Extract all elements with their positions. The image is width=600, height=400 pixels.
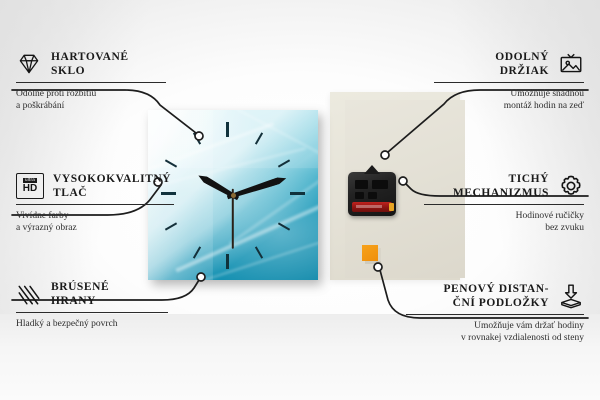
feature-beveled-edges[interactable]: BRÚSENÉ HRANY Hladký a bezpečný povrch	[16, 280, 168, 330]
mechanism-slot	[368, 192, 377, 199]
clock-mechanism	[348, 172, 396, 216]
beveled-edges-icon	[16, 281, 42, 307]
feature-divider	[406, 314, 584, 315]
second-hand	[232, 189, 234, 249]
aa-battery	[352, 202, 392, 212]
feature-description: Vivídne farby a výrazný obraz	[16, 210, 174, 234]
battery-label	[356, 205, 382, 208]
mechanism-slot	[372, 180, 388, 189]
feature-description: Hladký a bezpečný povrch	[16, 318, 168, 330]
feature-title: TICHÝ MECHANIZMUS	[453, 172, 549, 200]
feature-title: HARTOVANÉ SKLO	[51, 50, 129, 78]
feature-divider	[424, 204, 584, 205]
gear-icon	[558, 173, 584, 199]
diamond-icon	[16, 51, 42, 77]
arrow-onto-layers-icon	[558, 283, 584, 309]
feature-description: Odolné proti rozbitiu a poškrábání	[16, 88, 166, 112]
battery-terminal	[389, 203, 394, 211]
tick-3	[290, 192, 305, 195]
feature-header: ODOLNÝ DRŽIAK	[434, 50, 584, 78]
tick-6	[226, 254, 229, 269]
feature-header: PENOVÝ DISTAN- ČNÍ PODLOŽKY	[406, 282, 584, 310]
feature-divider	[16, 82, 166, 83]
feature-header: TICHÝ MECHANIZMUS	[424, 172, 584, 200]
feature-divider	[434, 82, 584, 83]
feature-description: Hodinové ručičky bez zvuku	[424, 210, 584, 234]
feature-title: BRÚSENÉ HRANY	[51, 280, 109, 308]
feature-header: BRÚSENÉ HRANY	[16, 280, 168, 308]
ultra-hd-main-text: HD	[23, 184, 37, 194]
feature-divider	[16, 204, 174, 205]
mechanism-slot	[355, 192, 364, 199]
tick-12	[226, 122, 229, 137]
feature-description: Umožňuje snadnou montáž hodin na zeď	[434, 88, 584, 112]
feature-title: ODOLNÝ DRŽIAK	[495, 50, 549, 78]
feature-divider	[16, 312, 168, 313]
clock-hub	[231, 193, 236, 198]
foam-pad-side	[365, 261, 381, 264]
feature-title: VYSOKOKVALITNÝ TLAČ	[53, 172, 171, 200]
feature-high-quality-print[interactable]: ultra HD VYSOKOKVALITNÝ TLAČ Vivídne far…	[16, 172, 174, 234]
feature-durable-hanger[interactable]: ODOLNÝ DRŽIAK Umožňuje snadnou montáž ho…	[434, 50, 584, 112]
feature-header: HARTOVANÉ SKLO	[16, 50, 166, 78]
feature-header: ultra HD VYSOKOKVALITNÝ TLAČ	[16, 172, 174, 200]
picture-frame-icon	[558, 51, 584, 77]
feature-tempered-glass[interactable]: HARTOVANÉ SKLO Odolné proti rozbitiu a p…	[16, 50, 166, 112]
foam-pad-top	[362, 245, 378, 261]
feature-silent-mechanism[interactable]: TICHÝ MECHANIZMUS Hodinové ručičky bez z…	[424, 172, 584, 234]
feature-title: PENOVÝ DISTAN- ČNÍ PODLOŽKY	[443, 282, 549, 310]
mechanism-slot	[355, 180, 368, 189]
feature-description: Umožňuje vám držať hodiny v rovnakej vzd…	[406, 320, 584, 344]
ultra-hd-badge-icon: ultra HD	[16, 173, 44, 199]
feature-foam-spacers[interactable]: PENOVÝ DISTAN- ČNÍ PODLOŽKY Umožňuje vám…	[406, 282, 584, 344]
infographic-canvas: HARTOVANÉ SKLO Odolné proti rozbitiu a p…	[0, 0, 600, 400]
foam-distance-pad	[362, 245, 381, 264]
